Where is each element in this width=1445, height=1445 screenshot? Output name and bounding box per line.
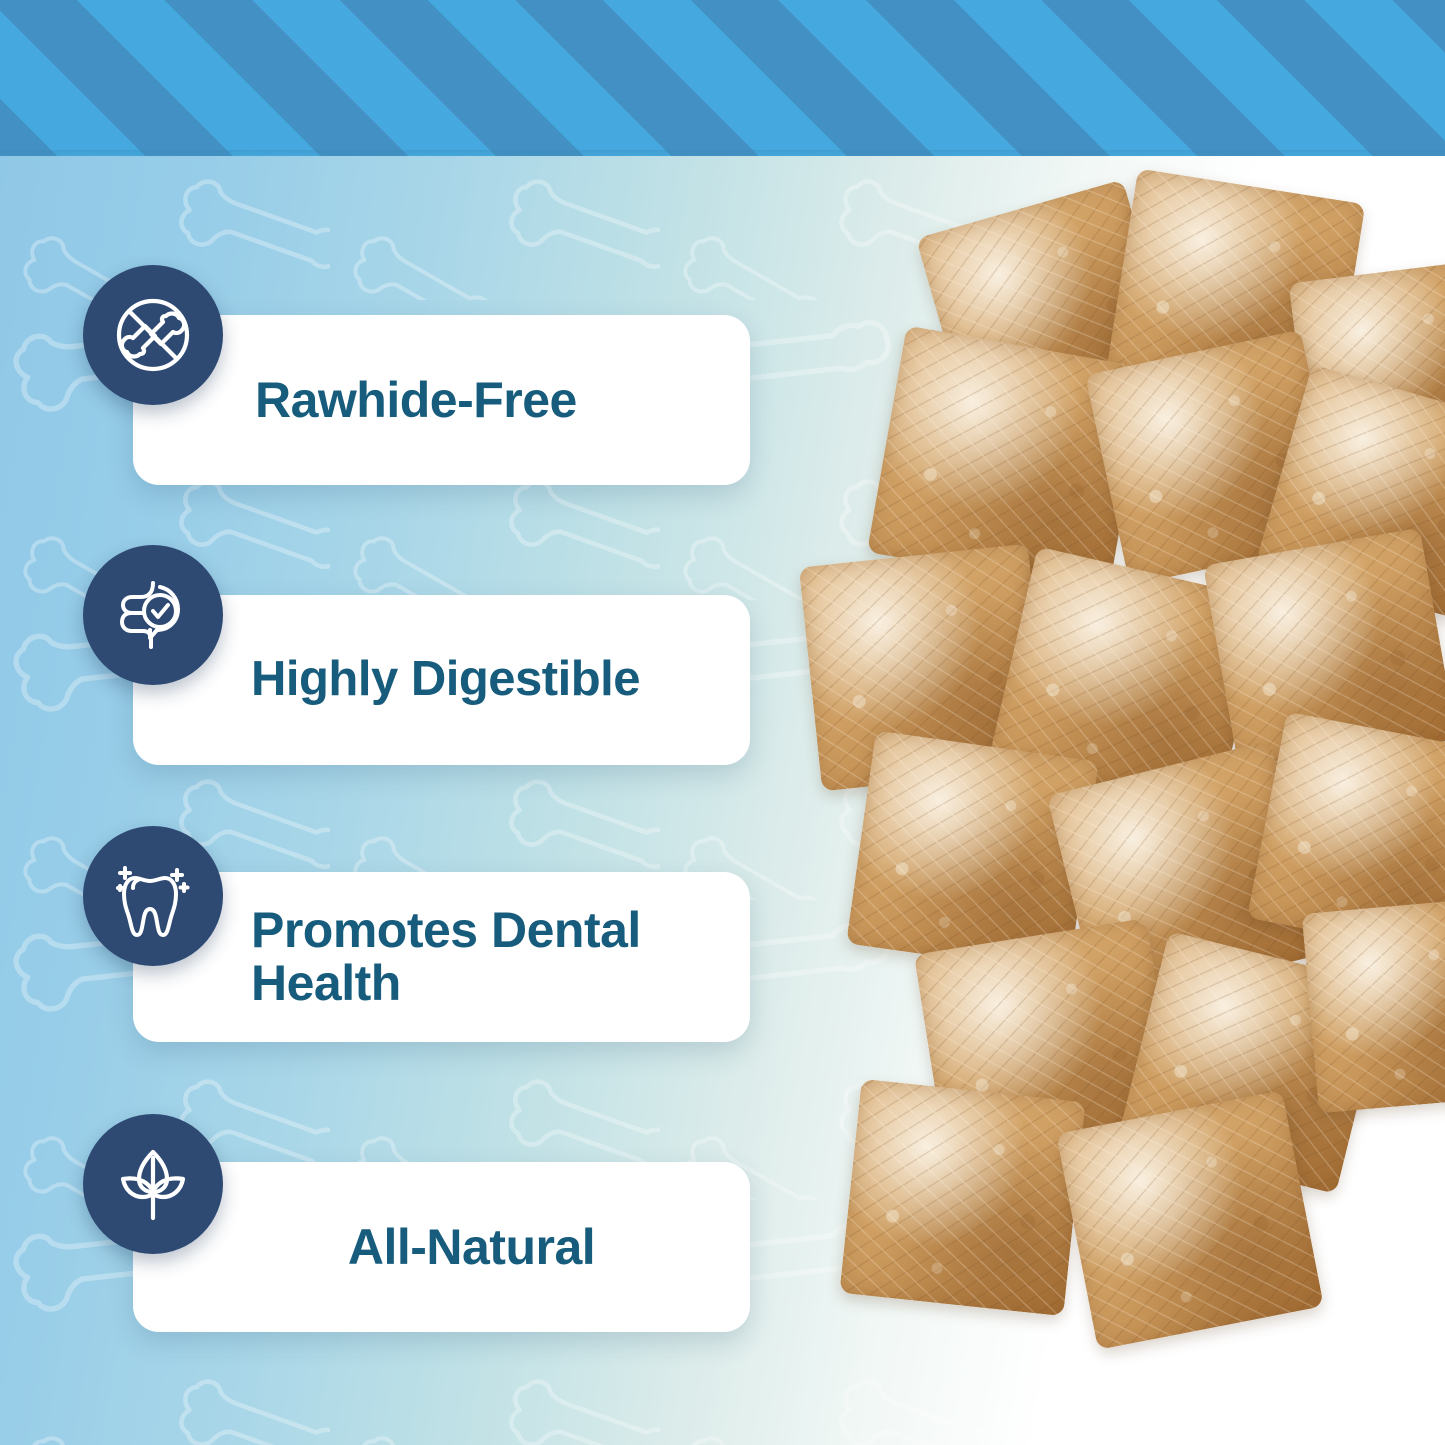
feature-row-highly-digestible: Highly Digestible bbox=[0, 595, 780, 765]
gingham-pattern bbox=[0, 0, 1445, 156]
feature-label: Promotes Dental Health bbox=[251, 904, 641, 1010]
gingham-header-band bbox=[0, 0, 1445, 156]
feature-row-rawhide-free: Rawhide-Free bbox=[0, 315, 780, 485]
infographic-canvas: Rawhide-Free Highly Digestible bbox=[0, 0, 1445, 1445]
feature-card-all-natural[interactable]: All-Natural bbox=[133, 1162, 750, 1332]
digestive-system-check-icon bbox=[83, 545, 223, 685]
sparkling-tooth-icon bbox=[83, 826, 223, 966]
header-edge-shadow bbox=[0, 150, 1445, 157]
feature-label: All-Natural bbox=[288, 1221, 595, 1274]
feature-label: Highly Digestible bbox=[251, 654, 640, 706]
feature-card-rawhide-free[interactable]: Rawhide-Free bbox=[133, 315, 750, 485]
feature-row-promotes-dental-health: Promotes Dental Health bbox=[0, 872, 780, 1042]
feature-card-promotes-dental-health[interactable]: Promotes Dental Health bbox=[133, 872, 750, 1042]
feature-card-highly-digestible[interactable]: Highly Digestible bbox=[133, 595, 750, 765]
feature-label: Rawhide-Free bbox=[255, 374, 577, 427]
feature-row-all-natural: All-Natural bbox=[0, 1162, 780, 1332]
leaf-sprout-icon bbox=[83, 1114, 223, 1254]
product-photo bbox=[790, 175, 1445, 1375]
no-rawhide-icon bbox=[83, 265, 223, 405]
